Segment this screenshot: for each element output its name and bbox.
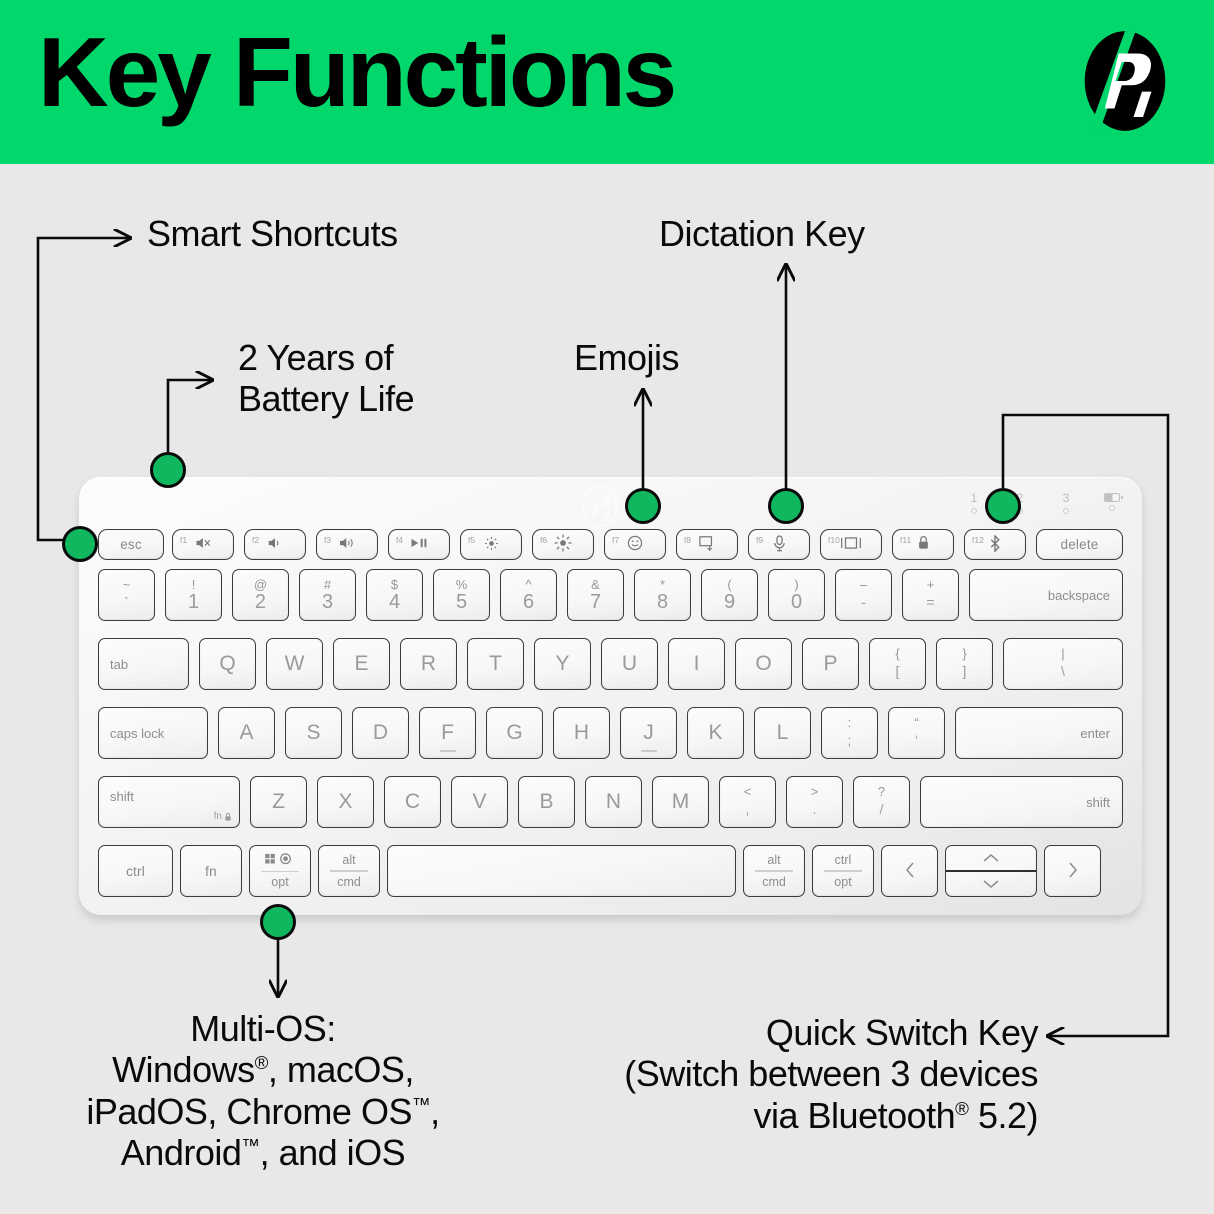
key-2[interactable]: @2 (232, 569, 289, 621)
key-1[interactable]: !1 (165, 569, 222, 621)
microphone-icon (773, 535, 786, 555)
header-banner: Key Functions (0, 0, 1214, 164)
annotation-quick-switch-key: Quick Switch Key (Switch between 3 devic… (508, 1012, 1038, 1136)
annotation-multi-os: Multi-OS: Windows®, macOS, iPadOS, Chrom… (44, 1008, 482, 1174)
key-grave[interactable]: ~` (98, 569, 155, 621)
key-f10-display[interactable]: f10 (820, 529, 882, 560)
key-f11-lock[interactable]: f11 (892, 529, 954, 560)
leader-battery-life (168, 380, 212, 463)
key-period[interactable]: >. (786, 776, 843, 828)
key-f5-brightness-down[interactable]: f5 (460, 529, 522, 560)
lock-icon (224, 812, 232, 822)
key-ctrl-left[interactable]: ctrl (98, 845, 173, 897)
windows-search-icon (265, 853, 295, 871)
brightness-up-icon (554, 534, 572, 555)
key-f4-play-pause[interactable]: f4 (388, 529, 450, 560)
key-minus[interactable]: –- (835, 569, 892, 621)
key-i[interactable]: I (668, 638, 725, 690)
key-fn[interactable]: fn (180, 845, 242, 897)
key-bracket-left[interactable]: {[ (869, 638, 926, 690)
key-ctrl-opt-right[interactable]: ctrl opt (812, 845, 874, 897)
key-f1-mute[interactable]: f1 (172, 529, 234, 560)
key-f7-emoji[interactable]: f7 (604, 529, 666, 560)
page-title: Key Functions (38, 18, 674, 128)
key-6[interactable]: ^6 (500, 569, 557, 621)
arrow-left-icon (904, 861, 916, 882)
key-a[interactable]: A (218, 707, 275, 759)
fn-lock-legend: fn (214, 811, 232, 822)
key-e[interactable]: E (333, 638, 390, 690)
key-3[interactable]: #3 (299, 569, 356, 621)
key-9[interactable]: (9 (701, 569, 758, 621)
key-esc[interactable]: esc (98, 529, 164, 560)
key-8[interactable]: *8 (634, 569, 691, 621)
keyboard-deck-hp-logo-icon (578, 484, 622, 528)
key-o[interactable]: O (735, 638, 792, 690)
key-c[interactable]: C (384, 776, 441, 828)
annotation-emojis: Emojis (574, 337, 679, 378)
key-v[interactable]: V (451, 776, 508, 828)
key-shift-left[interactable]: shift fn (98, 776, 240, 828)
key-0[interactable]: )0 (768, 569, 825, 621)
key-h[interactable]: H (553, 707, 610, 759)
key-z[interactable]: Z (250, 776, 307, 828)
key-w[interactable]: W (266, 638, 323, 690)
key-f[interactable]: F (419, 707, 476, 759)
key-slash[interactable]: ?/ (853, 776, 910, 828)
key-enter[interactable]: enter (955, 707, 1123, 759)
led-1 (971, 508, 977, 514)
callout-dot-smart-shortcuts (62, 526, 98, 562)
key-f6-brightness-up[interactable]: f6 (532, 529, 594, 560)
key-f12-bluetooth[interactable]: f12 (964, 529, 1026, 560)
annotation-battery-life: 2 Years of Battery Life (238, 337, 414, 420)
key-j[interactable]: J (620, 707, 677, 759)
annotation-dictation-key: Dictation Key (659, 213, 865, 254)
led-3 (1063, 508, 1069, 514)
key-f9-microphone[interactable]: f9 (748, 529, 810, 560)
key-alt-cmd-right[interactable]: alt cmd (743, 845, 805, 897)
arrow-down-icon[interactable] (946, 872, 1036, 896)
display-icon (840, 536, 862, 553)
key-f8-screenshot[interactable]: f8 (676, 529, 738, 560)
callout-dot-quick-switch (985, 488, 1021, 524)
callout-dot-battery-life (150, 452, 186, 488)
key-r[interactable]: R (400, 638, 457, 690)
key-caps-lock[interactable]: caps lock (98, 707, 208, 759)
key-spacebar[interactable] (387, 845, 736, 897)
key-tab[interactable]: tab (98, 638, 189, 690)
key-arrow-left[interactable] (881, 845, 938, 897)
homing-bar-j (641, 750, 657, 753)
key-l[interactable]: L (754, 707, 811, 759)
led-battery (1109, 505, 1115, 511)
key-y[interactable]: Y (534, 638, 591, 690)
volume-down-icon (266, 536, 284, 553)
bluetooth-icon (989, 535, 1001, 555)
key-d[interactable]: D (352, 707, 409, 759)
homing-bar-f (440, 750, 456, 753)
key-k[interactable]: K (687, 707, 744, 759)
key-s[interactable]: S (285, 707, 342, 759)
key-arrow-up-down[interactable] (945, 845, 1037, 897)
key-p[interactable]: P (802, 638, 859, 690)
volume-up-icon (337, 536, 357, 553)
key-n[interactable]: N (585, 776, 642, 828)
key-5[interactable]: %5 (433, 569, 490, 621)
arrow-right-icon (1067, 861, 1079, 882)
callout-dot-emojis (625, 488, 661, 524)
key-equals[interactable]: += (902, 569, 959, 621)
key-g[interactable]: G (486, 707, 543, 759)
key-backslash[interactable]: |\ (1003, 638, 1123, 690)
brightness-down-icon (484, 536, 499, 554)
key-delete[interactable]: delete (1036, 529, 1123, 560)
callout-dot-multi-os (260, 904, 296, 940)
key-alt-cmd-left[interactable]: alt cmd (318, 845, 380, 897)
key-bracket-right[interactable]: }] (936, 638, 993, 690)
screenshot-icon (698, 535, 716, 554)
lock-icon (917, 535, 930, 554)
key-arrow-right[interactable] (1044, 845, 1101, 897)
key-q[interactable]: Q (199, 638, 256, 690)
key-m[interactable]: M (652, 776, 709, 828)
key-4[interactable]: $4 (366, 569, 423, 621)
key-x[interactable]: X (317, 776, 374, 828)
indicator-device-3: 3 (1054, 492, 1078, 514)
mute-icon (195, 536, 212, 553)
key-shift-right[interactable]: shift (920, 776, 1123, 828)
indicator-battery (1100, 492, 1124, 514)
key-quote[interactable]: “‘ (888, 707, 945, 759)
arrow-up-icon[interactable] (946, 846, 1036, 870)
indicator-device-1: 1 (962, 492, 986, 514)
key-f3-volume-up[interactable]: f3 (316, 529, 378, 560)
key-f2-volume-down[interactable]: f2 (244, 529, 306, 560)
key-backspace[interactable]: backspace (969, 569, 1123, 621)
key-u[interactable]: U (601, 638, 658, 690)
key-windows-opt[interactable]: opt (249, 845, 311, 897)
key-7[interactable]: &7 (567, 569, 624, 621)
play-pause-icon (409, 537, 429, 552)
key-comma[interactable]: <, (719, 776, 776, 828)
emoji-icon (627, 535, 643, 554)
hp-logo-icon (1072, 28, 1178, 134)
callout-dot-dictation (768, 488, 804, 524)
key-semicolon[interactable]: :; (821, 707, 878, 759)
key-t[interactable]: T (467, 638, 524, 690)
annotation-smart-shortcuts: Smart Shortcuts (147, 213, 398, 254)
battery-icon (1104, 493, 1120, 502)
key-b[interactable]: B (518, 776, 575, 828)
